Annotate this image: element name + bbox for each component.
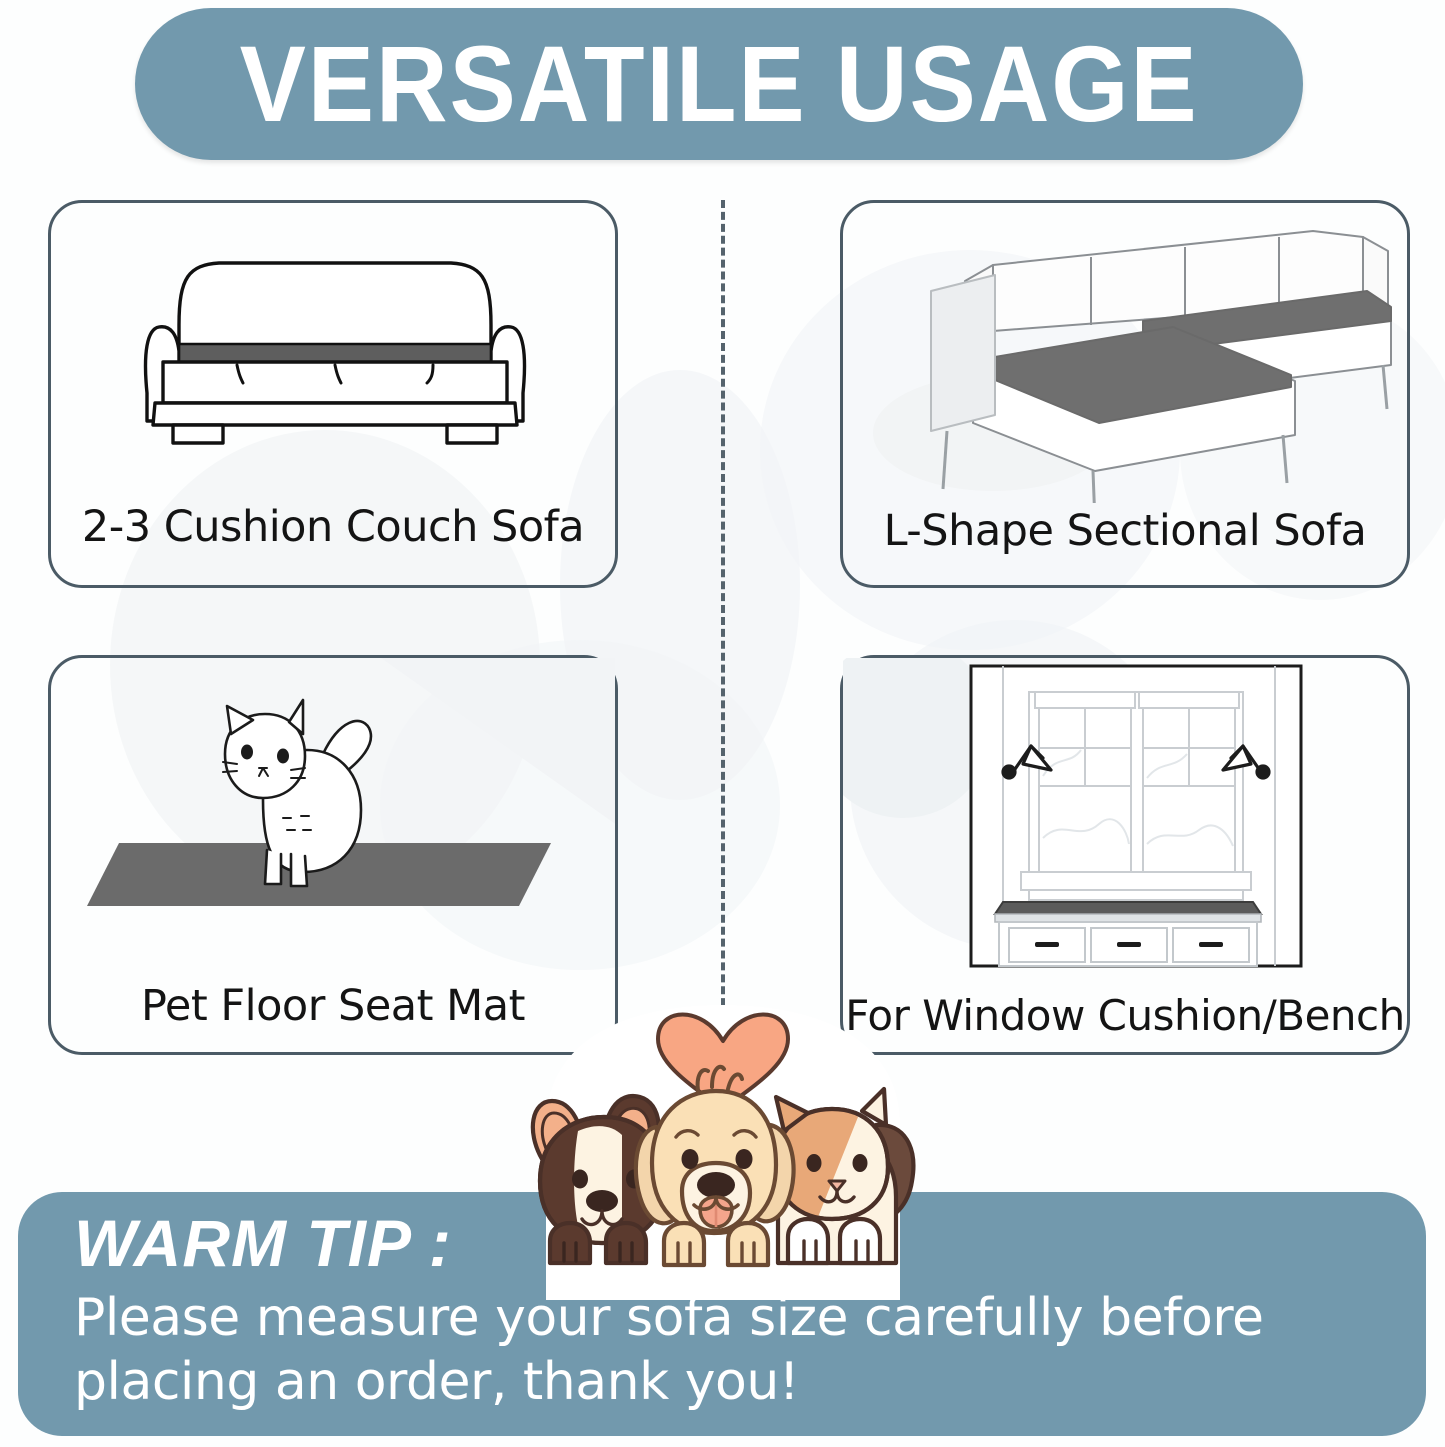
pets-group-icon [488,1005,958,1300]
pets-illustration [488,1005,958,1300]
l-shape-sectional-sofa-icon [843,203,1407,503]
card-label-sectional-sofa: L-Shape Sectional Sofa [843,507,1407,585]
usage-card-window-bench: For Window Cushion/Bench [840,655,1410,1055]
usage-card-sectional-sofa: L-Shape Sectional Sofa [840,200,1410,588]
cat-on-mat-icon [51,658,615,958]
infographic-root: VERSATILE USAGE [0,0,1445,1447]
couch-sofa-icon [51,203,615,493]
usage-card-pet-floor-mat: Pet Floor Seat Mat [48,655,618,1055]
window-bench-icon [843,658,1407,968]
couch-sofa-illustration [51,203,615,503]
retriever-nose [697,1172,735,1198]
usage-card-couch-sofa: 2-3 Cushion Couch Sofa [48,200,618,588]
sectional-sofa-illustration [843,203,1407,507]
vertical-dashed-divider [721,200,725,1030]
page-title: VERSATILE USAGE [240,30,1199,138]
bulldog-nose [586,1190,618,1212]
pet-floor-mat-illustration [51,658,615,982]
title-banner: VERSATILE USAGE [135,8,1303,160]
card-label-couch-sofa: 2-3 Cushion Couch Sofa [51,503,615,585]
warm-tip-body: Please measure your sofa size carefully … [74,1286,1374,1414]
window-bench-illustration [843,658,1407,992]
